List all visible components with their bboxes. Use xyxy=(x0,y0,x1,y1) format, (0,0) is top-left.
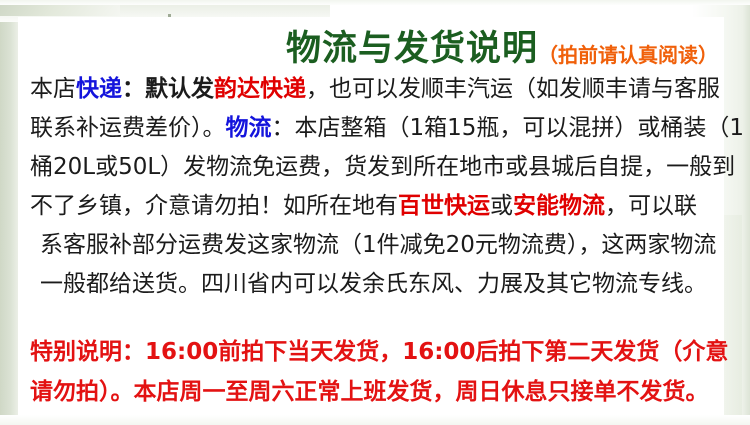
body-line-2-seg-1: 联系补运费差价）。 xyxy=(30,115,226,141)
body-line-1-seg-1: 本店 xyxy=(30,76,76,102)
body-line-4-seg-3: 或 xyxy=(490,193,513,219)
special-notice-line-2: 请勿拍）。本店周一至周六正常上班发货，周日休息只接单不发货。 xyxy=(30,372,720,412)
body-line-4-seg-5: ，可以联 xyxy=(605,193,697,219)
special-notice: 特别说明：16:00前拍下当天发货，16:00后拍下第二天发货（介意 请勿拍）。… xyxy=(30,332,720,412)
body-line-4: 不了乡镇，介意请勿拍！如所在地有百世快运或安能物流，可以联 xyxy=(30,187,720,226)
page-title-subtitle: （拍前请认真阅读） xyxy=(538,45,718,67)
body-line-1-seg-3: ：默认发 xyxy=(122,76,214,102)
page-title-main: 物流与发货说明 xyxy=(286,32,538,67)
right-edge-line xyxy=(742,0,750,425)
body-line-5: 系客服补部分运费发这家物流（1件减免20元物流费），这两家物流 xyxy=(30,226,720,265)
body-line-3: 桶20L或50L）发物流免运费，货发到所在地市或县城后自提，一般到 xyxy=(30,148,720,187)
notice-panel: 物流与发货说明 （拍前请认真阅读） 本店快递：默认发韵达快递，也可以发顺丰汽运（… xyxy=(18,17,724,415)
body-line-5-seg-1: 系客服补部分运费发这家物流（1件减免20元物流费），这两家物流 xyxy=(40,232,716,258)
keyword-ane-logistics: 安能物流 xyxy=(513,193,605,219)
shipping-notice-banner: 物流与发货说明 （拍前请认真阅读） 本店快递：默认发韵达快递，也可以发顺丰汽运（… xyxy=(0,0,750,425)
notice-body: 本店快递：默认发韵达快递，也可以发顺丰汽运（如发顺丰请与客服 联系补运费差价）。… xyxy=(30,70,720,304)
body-line-3-seg-1: 桶20L或50L）发物流免运费，货发到所在地市或县城后自提，一般到 xyxy=(30,154,735,180)
body-line-1-seg-5: ，也可以发顺丰汽运（如发顺丰请与客服 xyxy=(306,76,720,102)
top-hairline xyxy=(0,0,750,5)
body-line-6-seg-1: 一般都给送货。四川省内可以发余氏东风、力展及其它物流专线。 xyxy=(40,271,707,297)
keyword-logistics: 物流 xyxy=(226,115,272,141)
body-line-4-seg-1: 不了乡镇，介意请勿拍！如所在地有 xyxy=(30,193,398,219)
keyword-express: 快递 xyxy=(76,76,122,102)
body-line-1: 本店快递：默认发韵达快递，也可以发顺丰汽运（如发顺丰请与客服 xyxy=(30,70,720,109)
page-title: 物流与发货说明 （拍前请认真阅读） xyxy=(18,17,724,67)
keyword-best-express: 百世快运 xyxy=(398,193,490,219)
keyword-yunda-express: 韵达快递 xyxy=(214,76,306,102)
body-line-2-seg-3: ：本店整箱（1箱15瓶，可以混拼）或桶装（1 xyxy=(272,115,745,141)
body-line-6: 一般都给送货。四川省内可以发余氏东风、力展及其它物流专线。 xyxy=(30,265,720,304)
bottom-hairline xyxy=(0,415,750,425)
special-notice-line-1: 特别说明：16:00前拍下当天发货，16:00后拍下第二天发货（介意 xyxy=(30,332,720,372)
body-line-2: 联系补运费差价）。物流：本店整箱（1箱15瓶，可以混拼）或桶装（1 xyxy=(30,109,720,148)
